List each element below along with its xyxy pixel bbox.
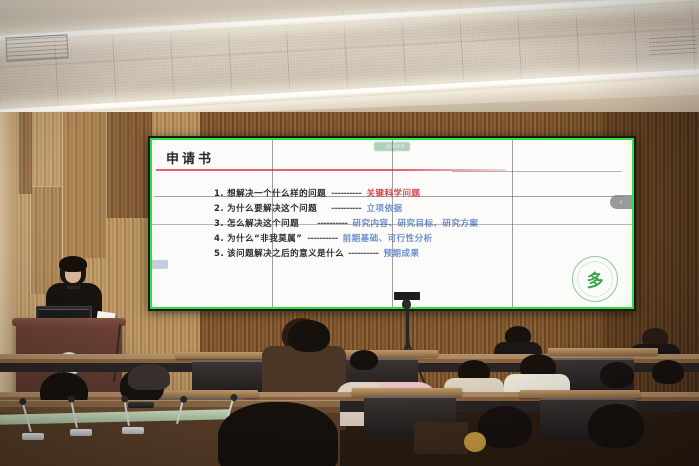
emblem-glyph: 多 bbox=[587, 267, 604, 292]
slide-question-list: 1. 想解决一个什么样的问题 ---------- 关键科学问题 2. 为什么要… bbox=[214, 187, 624, 262]
audience-head bbox=[600, 362, 634, 388]
question-number: 1. bbox=[214, 189, 224, 199]
desk-plate bbox=[520, 390, 640, 398]
question-number: 2. bbox=[214, 204, 224, 214]
desk-plate bbox=[352, 388, 462, 396]
question-text: 为什么要解决这个问题 bbox=[227, 202, 317, 214]
chevron-left-icon[interactable]: ‹ bbox=[610, 195, 632, 209]
list-item: 2. 为什么要解决这个问题 ---------- 立项依据 bbox=[214, 202, 624, 217]
seat-back bbox=[192, 360, 270, 394]
screen-share-icon bbox=[379, 145, 383, 149]
audience-head bbox=[652, 360, 684, 384]
screen-share-badge[interactable]: 屏幕共享 bbox=[374, 142, 410, 151]
bag-accessory bbox=[464, 432, 486, 452]
question-text: 为什么“非我莫属” bbox=[227, 232, 302, 244]
desk-plate bbox=[148, 390, 258, 398]
list-item: 5. 该问题解决之后的意义是什么 ---------- 预期成果 bbox=[214, 247, 624, 262]
lecture-hall-photo: 申请书 1. 想解决一个什么样的问题 ---------- 关键科学问题 2. … bbox=[0, 0, 699, 466]
microphone-base bbox=[22, 433, 44, 440]
slide-title: 申请书 bbox=[166, 148, 214, 167]
desk-plate bbox=[176, 352, 272, 359]
video-wall-display[interactable]: 申请书 1. 想解决一个什么样的问题 ---------- 关键科学问题 2. … bbox=[148, 136, 636, 311]
handbag bbox=[414, 422, 468, 454]
question-text: 想解决一个什么样的问题 bbox=[227, 187, 326, 199]
air-vent-right bbox=[648, 33, 697, 56]
audience-head-foreground bbox=[218, 402, 338, 466]
screen-share-label: 屏幕共享 bbox=[386, 144, 405, 150]
question-dash: ---------- bbox=[331, 189, 361, 199]
air-vent-left bbox=[5, 34, 68, 61]
question-dash: ---------- bbox=[331, 204, 361, 214]
list-item: 1. 想解决一个什么样的问题 ---------- 关键科学问题 bbox=[214, 187, 624, 202]
question-dash: ---------- bbox=[317, 219, 347, 229]
question-text: 该问题解决之后的意义是什么 bbox=[227, 247, 344, 259]
slide-left-tag bbox=[152, 260, 168, 269]
question-answer: 立项依据 bbox=[366, 202, 402, 214]
audience-head-front bbox=[288, 320, 330, 352]
question-dash: ---------- bbox=[348, 249, 378, 259]
microphone-base-dark bbox=[128, 402, 154, 408]
question-number: 3. bbox=[214, 219, 224, 229]
presenter-hair bbox=[59, 256, 87, 272]
desk-plate bbox=[548, 348, 658, 355]
desk-plate bbox=[330, 350, 438, 357]
audience-seating bbox=[0, 320, 699, 466]
audience-head-near bbox=[588, 404, 644, 448]
list-item: 4. 为什么“非我莫属” ---------- 前期基础、可行性分析 bbox=[214, 232, 624, 247]
university-emblem-icon: 多 bbox=[572, 256, 618, 302]
slide-surface: 申请书 1. 想解决一个什么样的问题 ---------- 关键科学问题 2. … bbox=[150, 138, 634, 309]
microphone-base bbox=[70, 429, 92, 436]
question-number: 5. bbox=[214, 249, 224, 259]
question-dash: ---------- bbox=[307, 234, 337, 244]
question-answer: 研究内容、研究目标、研究方案 bbox=[352, 217, 478, 229]
slide-gray-rule-upper bbox=[452, 171, 622, 172]
audience-head bbox=[350, 350, 378, 370]
question-answer: 关键科学问题 bbox=[366, 187, 420, 199]
microphone-base bbox=[122, 427, 144, 434]
question-text: 怎么解决这个问题 bbox=[227, 217, 299, 229]
list-item: 3. 怎么解决这个问题 ---------- 研究内容、研究目标、研究方案 bbox=[214, 217, 624, 232]
question-answer: 预期成果 bbox=[383, 247, 419, 259]
audience-beanie-hat bbox=[128, 364, 170, 390]
question-answer: 前期基础、可行性分析 bbox=[343, 232, 433, 244]
audience-head-near bbox=[478, 406, 532, 448]
question-number: 4. bbox=[214, 234, 224, 244]
